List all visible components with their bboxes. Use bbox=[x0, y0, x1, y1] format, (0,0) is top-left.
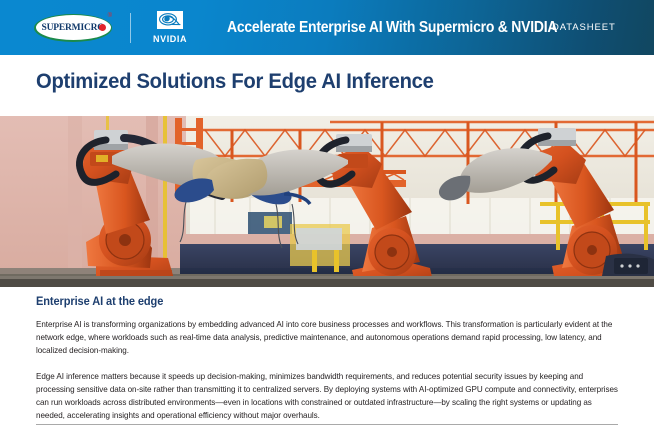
header-kicker-datasheet: DATASHEET bbox=[552, 0, 616, 55]
logo-divider bbox=[130, 13, 131, 43]
hero-image bbox=[0, 116, 654, 287]
factory-robot-arms-illustration bbox=[0, 116, 654, 287]
body-paragraph-2: Edge AI inference matters because it spe… bbox=[36, 370, 618, 423]
datasheet-page: SUPERMICRO ® NVIDIA A bbox=[0, 0, 654, 435]
section-heading: Enterprise AI at the edge bbox=[36, 296, 595, 308]
supermicro-wordmark: SUPERMICRO bbox=[42, 23, 105, 33]
footer-divider bbox=[36, 424, 618, 425]
page-title: Optimized Solutions For Edge AI Inferenc… bbox=[36, 69, 434, 94]
nvidia-logo[interactable]: NVIDIA bbox=[153, 11, 187, 44]
supermicro-trademark-icon: ® bbox=[108, 13, 112, 19]
nvidia-wordmark: NVIDIA bbox=[153, 35, 187, 44]
header-title: Accelerate Enterprise AI With Supermicro… bbox=[227, 19, 557, 37]
nvidia-eye-icon bbox=[157, 11, 183, 34]
body-paragraph-1: Enterprise AI is transforming organizati… bbox=[36, 318, 618, 358]
content-section: Enterprise AI at the edge Enterprise AI … bbox=[36, 296, 618, 422]
supermicro-red-dot-icon bbox=[99, 24, 106, 31]
supermicro-logo[interactable]: SUPERMICRO ® bbox=[34, 14, 112, 42]
page-header: SUPERMICRO ® NVIDIA A bbox=[0, 0, 654, 55]
